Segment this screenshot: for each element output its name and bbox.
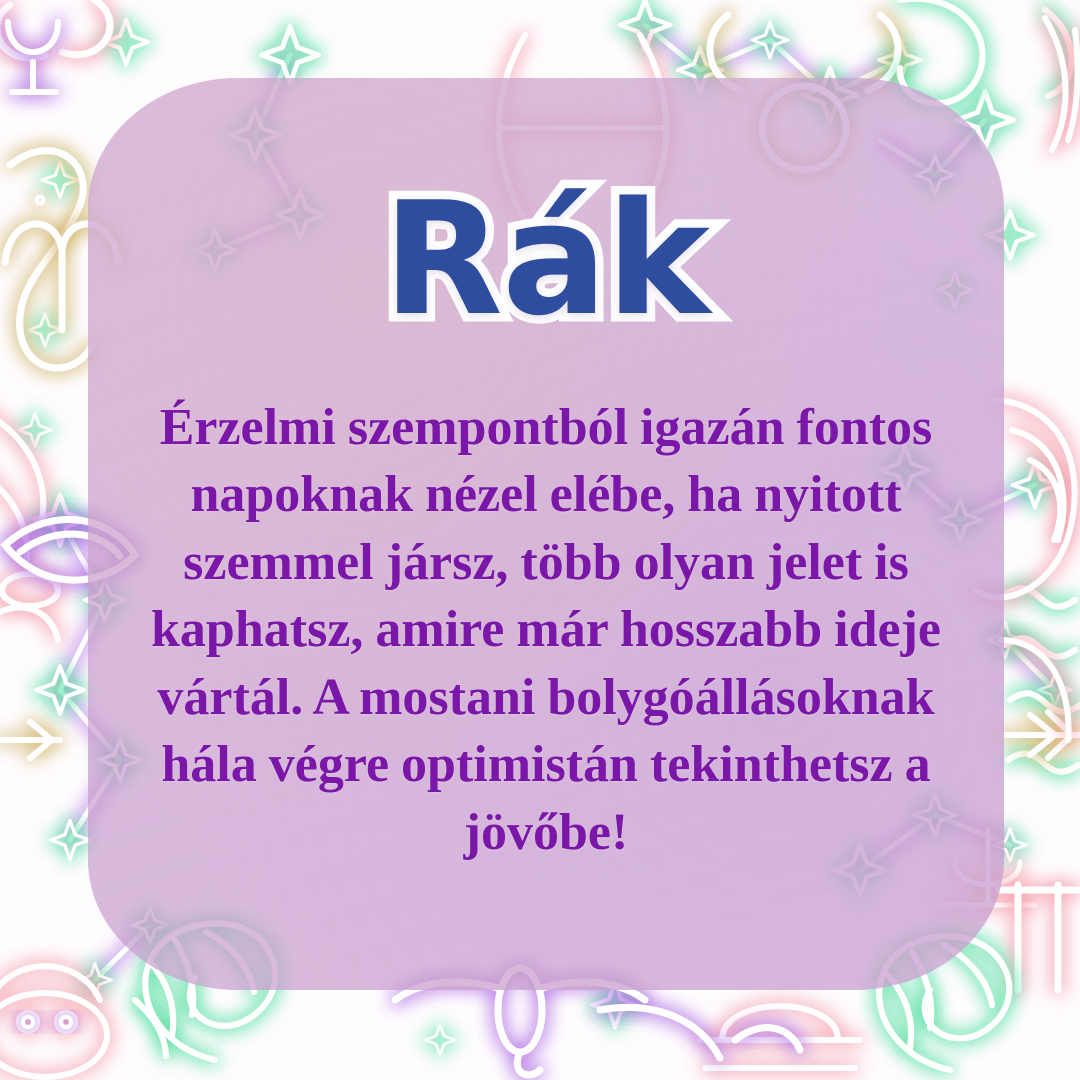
- horoscope-card-image: Rák Érzelmi szempontból igazán fontos na…: [0, 0, 1080, 1080]
- zodiac-sign-title: Rák: [383, 78, 709, 332]
- card-content: Rák Érzelmi szempontból igazán fontos na…: [88, 78, 1004, 990]
- horoscope-body-text: Érzelmi szempontból igazán fontos napokn…: [88, 332, 1004, 867]
